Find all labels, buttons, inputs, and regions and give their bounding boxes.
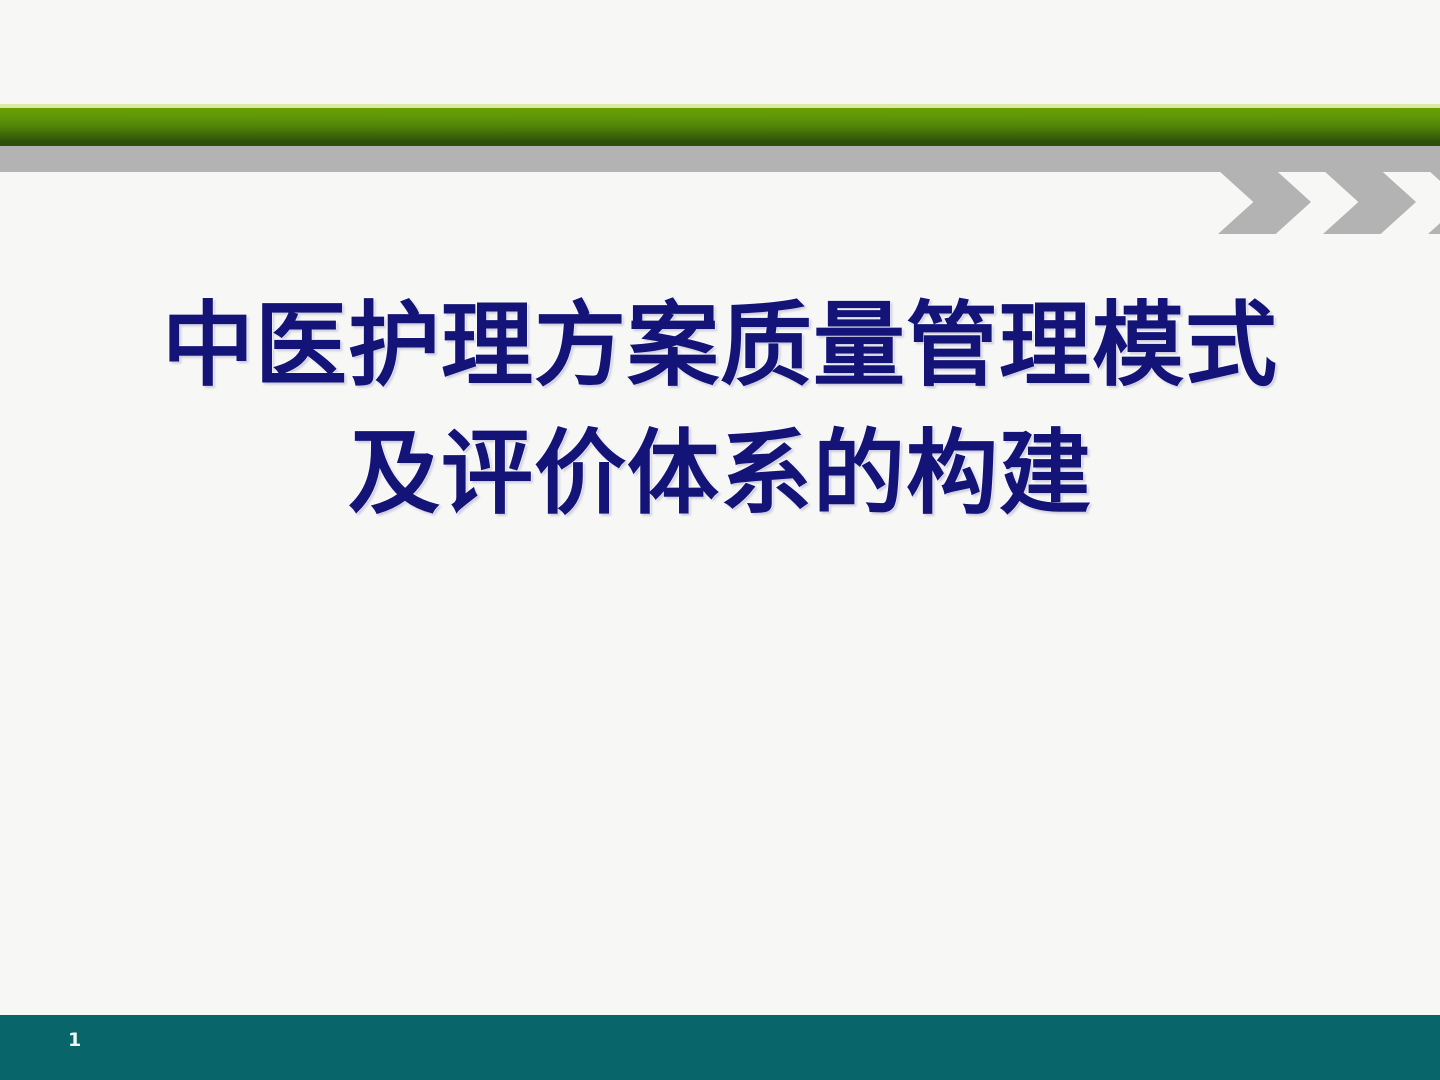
chevron-right-icon [1218,170,1311,234]
footer-bar [0,1015,1440,1080]
gray-accent-band [0,146,1440,172]
presentation-slide: 中医护理方案质量管理模式 及评价体系的构建 1 [0,0,1440,1080]
chevron-right-icon [1428,170,1440,234]
chevron-right-icon [1323,170,1416,234]
slide-title: 中医护理方案质量管理模式 及评价体系的构建 [0,282,1440,538]
slide-title-line-1: 中医护理方案质量管理模式 [0,282,1440,410]
slide-title-line-2: 及评价体系的构建 [0,410,1440,538]
chevron-decoration-group [1218,170,1440,234]
page-number: 1 [68,1029,82,1051]
green-accent-band [0,108,1440,145]
